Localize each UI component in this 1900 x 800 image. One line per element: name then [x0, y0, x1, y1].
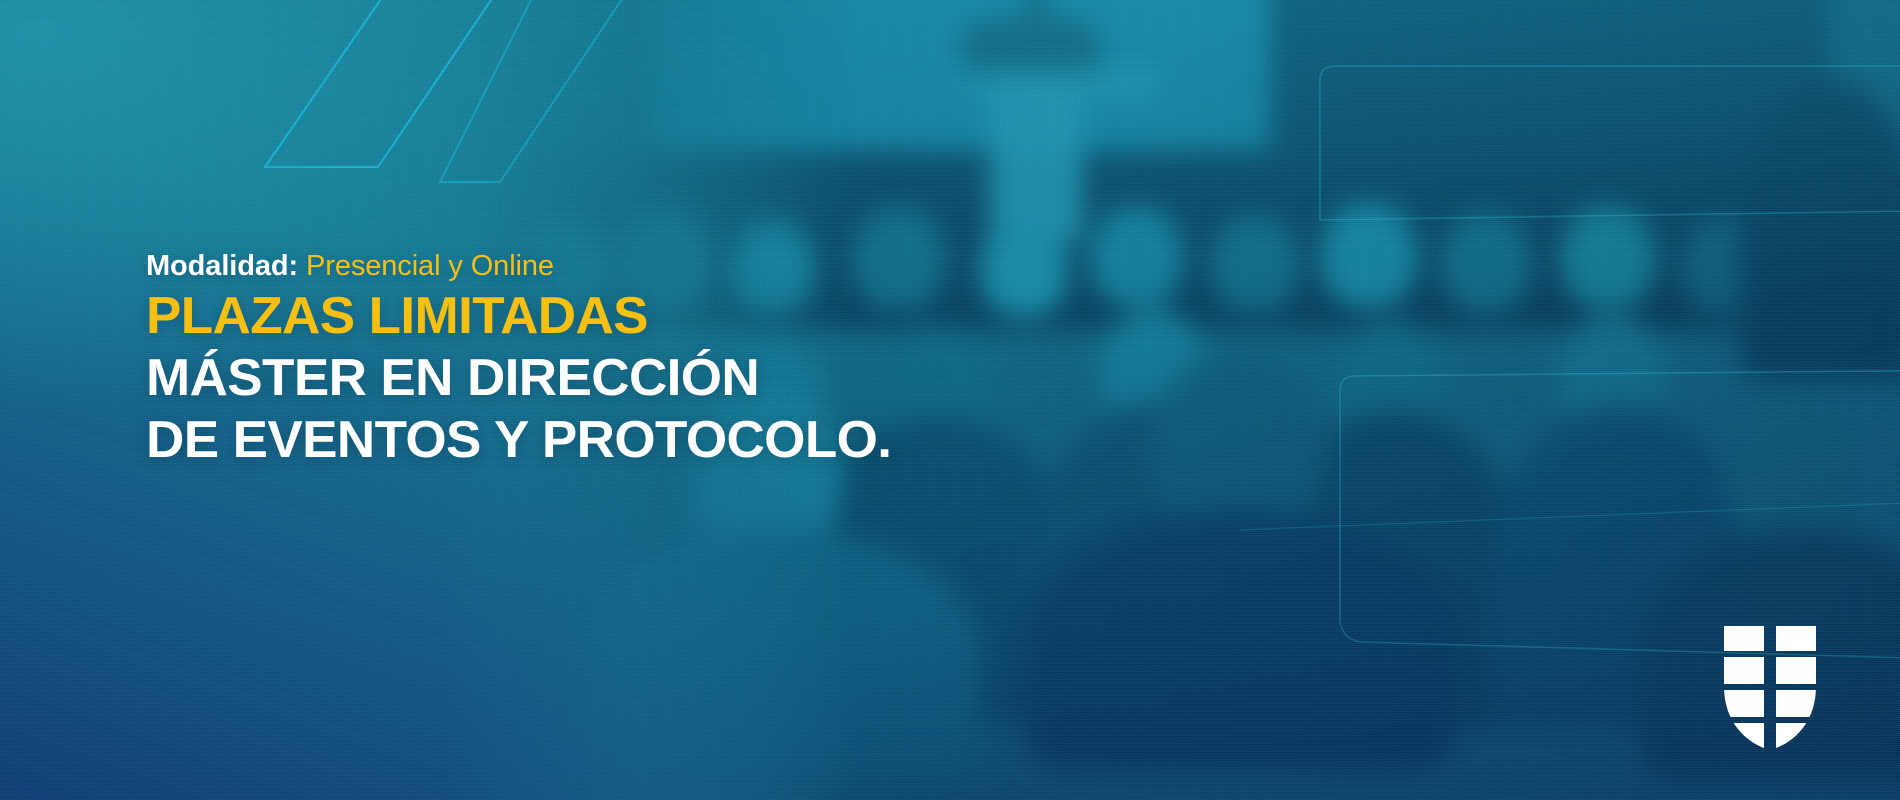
modality-line: Modalidad: Presencial y Online [146, 252, 877, 281]
modality-label: Modalidad: [146, 250, 298, 282]
headline-plazas-limitadas: PLAZAS LIMITADAS [146, 290, 891, 342]
promo-banner: Modalidad: Presencial y Online PLAZAS LI… [0, 0, 1900, 800]
shield-logo [1722, 624, 1818, 752]
headline-copy-block: Modalidad: Presencial y Online PLAZAS LI… [146, 252, 877, 466]
modality-value: Presencial y Online [306, 250, 554, 282]
headline-master-direccion: MÁSTER EN DIRECCIÓN [146, 352, 891, 404]
headline-eventos-protocolo: DE EVENTOS Y PROTOCOLO. [146, 414, 891, 466]
